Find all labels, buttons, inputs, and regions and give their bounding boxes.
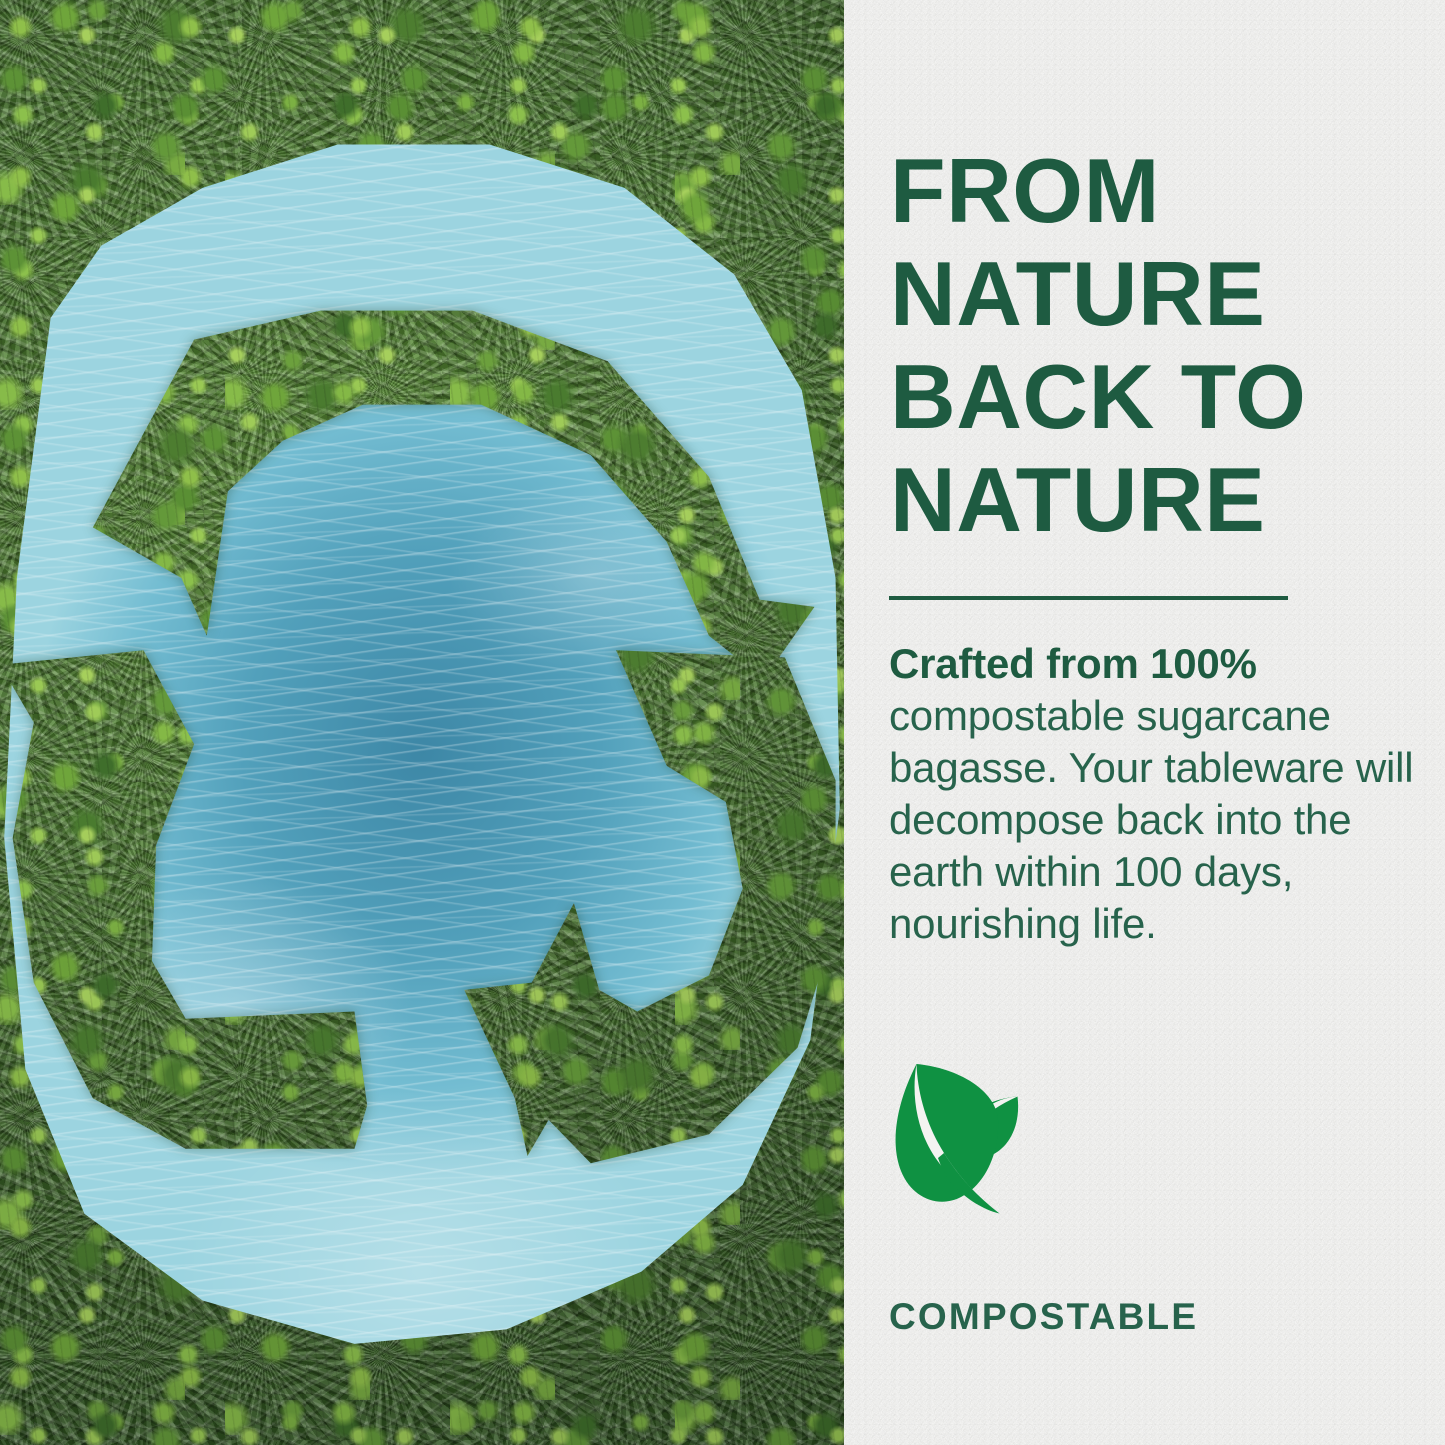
- poster-canvas: FROM NATURE BACK TO NATURE Crafted from …: [0, 0, 1445, 1445]
- forest-recycle-image: [0, 0, 844, 1445]
- headline-line-3: BACK TO: [890, 346, 1430, 449]
- body-copy-lead: Crafted from 100%: [889, 640, 1257, 687]
- body-copy-rest: compostable sugarcane bagasse. Your tabl…: [889, 692, 1413, 947]
- content-panel: FROM NATURE BACK TO NATURE Crafted from …: [844, 0, 1445, 1445]
- body-copy: Crafted from 100% compostable sugarcane …: [889, 638, 1416, 950]
- page-title: FROM NATURE BACK TO NATURE: [890, 140, 1430, 552]
- divider-rule: [889, 596, 1288, 600]
- headline-line-2: NATURE: [890, 243, 1430, 346]
- compostable-badge: COMPOSTABLE: [889, 1058, 1219, 1338]
- leaf-icon: [889, 1058, 1037, 1254]
- headline-line-4: NATURE: [890, 449, 1430, 552]
- badge-label: COMPOSTABLE: [889, 1296, 1219, 1338]
- headline-line-1: FROM: [890, 140, 1430, 243]
